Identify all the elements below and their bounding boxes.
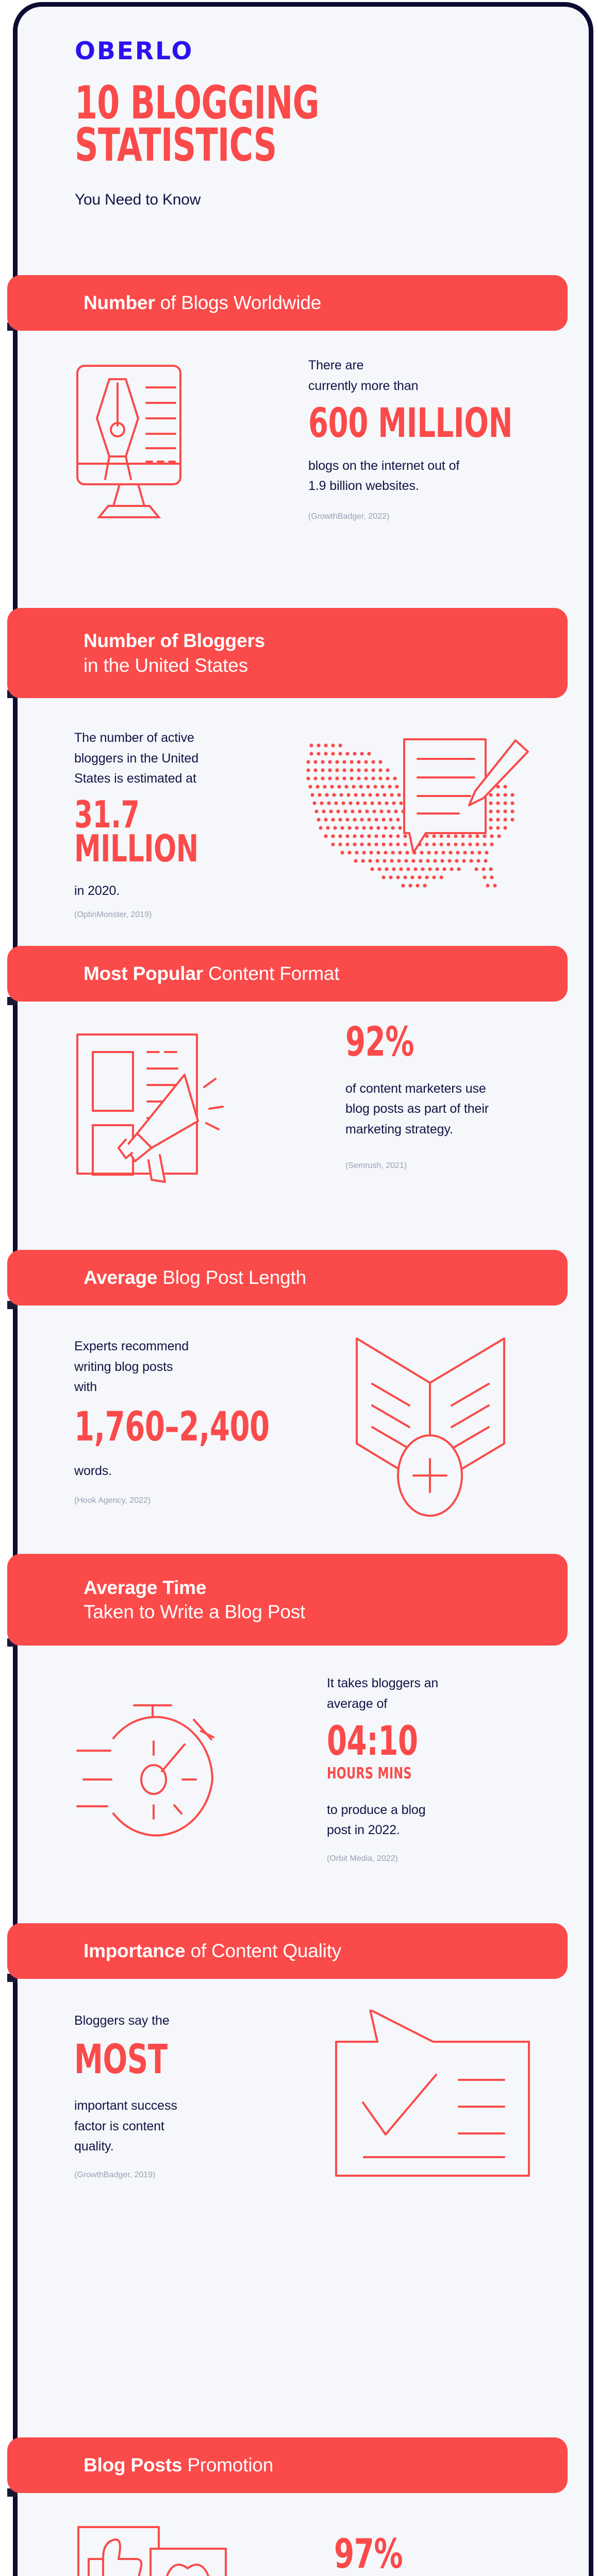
stat-block-bloggers-us: The number of active bloggers in the Uni… [18,698,598,951]
section-banner-blogs-worldwide: Number of Blogs Worldwide [7,275,568,331]
banner-bold-text: Number of Bloggers [84,630,265,651]
section-banner-bloggers-us: Number of Bloggersin the United States [7,608,568,698]
stat-lead-text: Bloggers say the [74,2011,280,2031]
section-banner-promotion: Blog Posts Promotion [7,2437,568,2493]
stat-citation: (Hook Agency, 2022) [74,1496,291,1505]
stat-unit-label: HOURS MINS [327,1765,504,1783]
banner-rest-text: in the United States [84,655,248,676]
stat-big-number: 1,760–2,400 [74,1409,247,1446]
page-subtitle: You Need to Know [75,191,201,209]
banner-rest-text: of Blogs Worldwide [155,292,322,313]
stat-big-number: 92% [345,1024,519,1061]
infographic-frame: OBERLO 10 BLOGGING STATISTICS You Need t… [13,2,593,2576]
stat-tail-text: important success factor is content qual… [74,2096,280,2157]
stat-tail-text: of content marketers use blog posts as p… [345,1079,562,1140]
stat-big-number: MOST [74,2042,239,2079]
stat-citation: (Semrush, 2021) [345,1161,562,1171]
stat-lead-text: The number of active bloggers in the Uni… [74,728,270,789]
banner-rest-text: Content Format [203,963,339,984]
stat-big-number: 04:10 [327,1723,500,1760]
stat-block-blogs-worldwide: There are currently more than 600 MILLIO… [18,331,598,599]
page-title: 10 BLOGGING STATISTICS [75,82,413,166]
article-megaphone-icon [74,1031,244,1196]
banner-rest-text: Taken to Write a Blog Post [84,1601,305,1622]
stopwatch-icon [73,1679,279,1849]
stat-big-number: 97% [334,2536,507,2573]
stat-big-number: 600 MILLION [308,405,490,443]
banner-bold-text: Average Time [84,1577,206,1598]
banner-bold-text: Blog Posts [84,2454,182,2476]
stat-lead-text: Experts recommend writing blog posts wit… [74,1336,291,1398]
stat-tail-text: in 2020. [74,881,270,902]
stat-citation: (Orbit Media, 2022) [327,1854,543,1863]
title-line-2: STATISTICS [75,124,413,166]
banner-bold-text: Most Popular [84,963,203,984]
stat-block-post-length: Experts recommend writing blog posts wit… [18,1306,598,1558]
section-banner-content-quality: Importance of Content Quality [7,1923,568,1979]
stat-tail-text: blogs on the internet out of 1.9 billion… [308,456,535,497]
stat-citation: (GrowthBadger, 2022) [308,512,535,521]
stat-citation: (OptinMonster, 2019) [74,910,270,920]
section-banner-post-length: Average Blog Post Length [7,1250,568,1306]
stat-big-number: 31.7 MILLION [74,798,231,866]
checklist-document-icon [332,2010,538,2185]
banner-bold-text: Number [84,292,155,313]
stat-citation: (GrowthBadger, 2019) [74,2171,280,2180]
stat-block-time-to-write: It takes bloggers an average of 04:10 HO… [18,1646,598,1903]
banner-rest-text: Blog Post Length [157,1267,306,1288]
banner-rest-text: Promotion [182,2454,273,2476]
stat-lead-text: There are currently more than [308,355,535,396]
section-banner-time-to-write: Average TimeTaken to Write a Blog Post [7,1554,568,1646]
monitor-pen-icon [74,363,185,538]
stat-block-promotion: 97% of bloggers use social media to prom… [18,2493,598,2576]
stat-tail-text: to produce a blog post in 2022. [327,1800,543,1841]
stat-block-content-quality: Bloggers say the MOST important success … [18,1979,598,2236]
oberlo-logo: OBERLO [75,37,193,65]
stat-block-content-format: 92% of content marketers use blog posts … [18,1002,598,1254]
banner-bold-text: Average [84,1267,157,1288]
section-banner-content-format: Most Popular Content Format [7,946,568,1002]
banner-bold-text: Importance [84,1940,185,1961]
stat-lead-text: It takes bloggers an average of [327,1673,543,1714]
stat-tail-text: words. [74,1461,291,1482]
us-map-document-pencil-icon [306,730,549,900]
social-reactions-hand-icon [73,2524,279,2576]
open-book-plus-icon [352,1333,517,1519]
banner-rest-text: of Content Quality [185,1940,341,1961]
